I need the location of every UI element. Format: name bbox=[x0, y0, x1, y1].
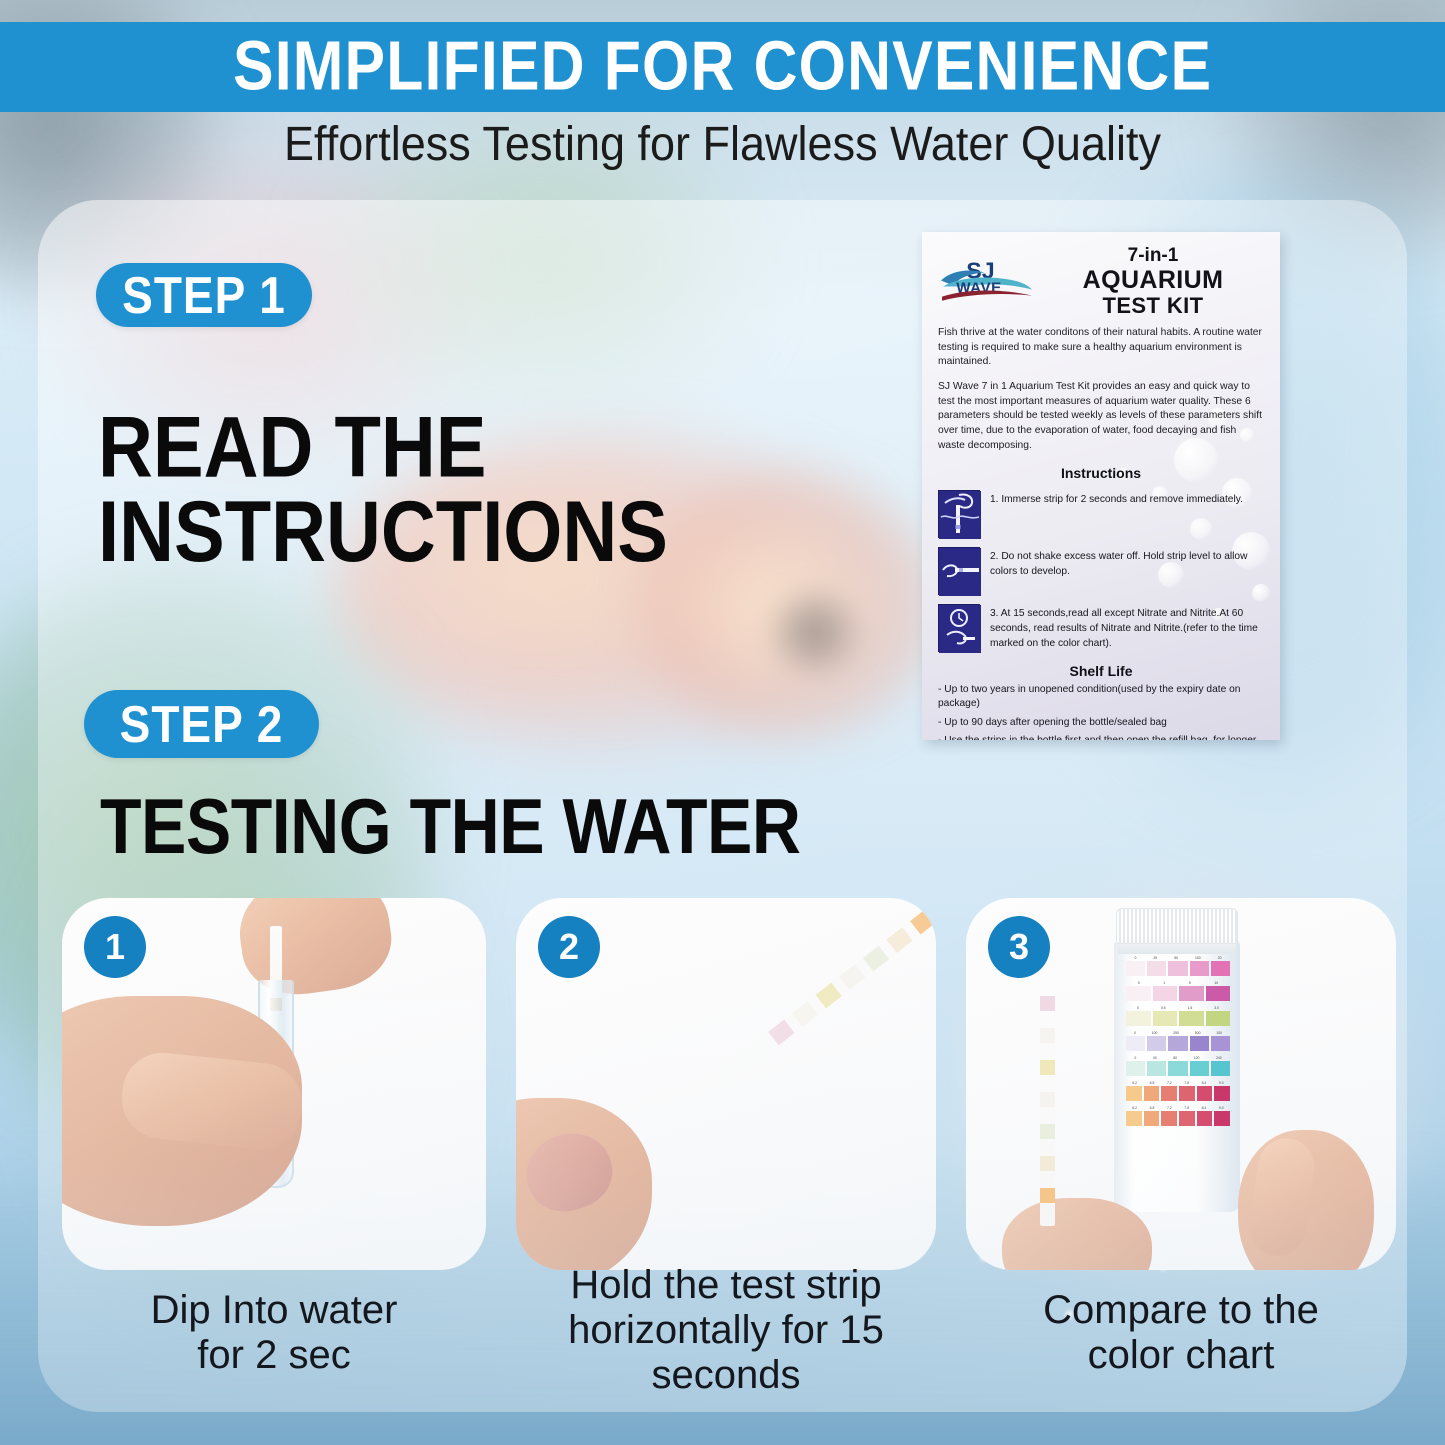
step-photo-3: 02550100200151000.51.53.0010025050010004… bbox=[966, 898, 1396, 1270]
shelf-life-item: - Up to 90 days after opening the bottle… bbox=[938, 716, 1264, 730]
chart-row-swatches bbox=[1126, 1011, 1230, 1026]
step-1-badge-label: STEP 1 bbox=[122, 265, 286, 325]
step-number-2: 2 bbox=[559, 926, 579, 968]
step-caption-1: Dip Into water for 2 sec bbox=[62, 1288, 486, 1378]
bottle-cap bbox=[1116, 908, 1238, 944]
strip-pad bbox=[792, 1001, 818, 1027]
strip-pad bbox=[1040, 1156, 1055, 1171]
shelf-life-item: - Up to two years in unopened condition(… bbox=[938, 683, 1264, 712]
leaflet-instruction-row: 2. Do not shake excess water off. Hold s… bbox=[938, 547, 1264, 595]
instruction-text-1: 1. Immerse strip for 2 seconds and remov… bbox=[990, 490, 1243, 508]
strip-pad bbox=[839, 964, 865, 990]
leaflet-paragraph-1: Fish thrive at the water conditons of th… bbox=[938, 326, 1264, 370]
step-number-3: 3 bbox=[1009, 926, 1029, 968]
instruction-text-3: 3. At 15 seconds,read all except Nitrate… bbox=[990, 604, 1264, 652]
step-1-heading: READ THE INSTRUCTIONS bbox=[98, 406, 668, 576]
strip-pad bbox=[1040, 1092, 1055, 1107]
leaflet-title-line1: 7-in-1 bbox=[1042, 246, 1264, 267]
test-strip-compare bbox=[1040, 988, 1055, 1226]
chart-row-swatches bbox=[1126, 1036, 1230, 1051]
step-2-badge-label: STEP 2 bbox=[120, 694, 284, 754]
strip-pad bbox=[1040, 996, 1055, 1011]
chart-row-swatches bbox=[1126, 1111, 1230, 1126]
page-subtitle: Effortless Testing for Flawless Water Qu… bbox=[0, 116, 1445, 172]
header-banner: SIMPLIFIED FOR CONVENIENCE bbox=[0, 22, 1445, 112]
read-at-time-icon bbox=[938, 604, 980, 652]
step-photo-2: 2 bbox=[516, 898, 936, 1270]
page-title: SIMPLIFIED FOR CONVENIENCE bbox=[233, 32, 1212, 101]
step-1-badge: STEP 1 bbox=[96, 263, 312, 327]
leaflet-title-line3: TEST KIT bbox=[1042, 294, 1264, 318]
instruction-text-2: 2. Do not shake excess water off. Hold s… bbox=[990, 547, 1264, 580]
strip-pad bbox=[1040, 1060, 1055, 1075]
instruction-leaflet: SJ WAVE 7-in-1 AQUARIUM TEST KIT Fish th… bbox=[922, 232, 1280, 740]
strip-pad bbox=[1040, 1188, 1055, 1203]
step-2-heading: TESTING THE WATER bbox=[100, 789, 800, 865]
leaflet-instruction-row: 1. Immerse strip for 2 seconds and remov… bbox=[938, 490, 1264, 538]
chart-row-swatches bbox=[1126, 986, 1230, 1001]
color-chart: 02550100200151000.51.53.0010025050010004… bbox=[1126, 956, 1230, 1131]
test-strip-diagonal bbox=[713, 898, 936, 1088]
shelf-life-item: - Use the strips in the bottle first and… bbox=[938, 734, 1264, 740]
chart-row-swatches bbox=[1126, 1086, 1230, 1101]
leaflet-header: SJ WAVE 7-in-1 AQUARIUM TEST KIT bbox=[938, 244, 1264, 317]
step-caption-2: Hold the test strip horizontally for 15 … bbox=[510, 1263, 942, 1397]
chart-row-swatches bbox=[1126, 1061, 1230, 1076]
step-number-badge-3: 3 bbox=[988, 916, 1050, 978]
leaflet-title-line2: AQUARIUM bbox=[1042, 267, 1264, 294]
strip-pad bbox=[886, 927, 912, 953]
step-caption-3: Compare to the color chart bbox=[966, 1288, 1396, 1378]
step-photo-1: 1 bbox=[62, 898, 486, 1270]
strip-pad bbox=[816, 983, 842, 1009]
leaflet-instructions-title: Instructions bbox=[938, 465, 1264, 481]
chart-row-swatches bbox=[1126, 961, 1230, 976]
step-number-1: 1 bbox=[105, 926, 125, 968]
strip-pad bbox=[768, 1020, 794, 1046]
immerse-strip-icon bbox=[938, 490, 980, 538]
strip-pad bbox=[910, 909, 936, 935]
leaflet-shelf-life-title: Shelf Life bbox=[938, 663, 1264, 679]
leaflet-title-block: 7-in-1 AQUARIUM TEST KIT bbox=[1042, 244, 1264, 317]
hold-strip-level-icon bbox=[938, 547, 980, 595]
strip-pad bbox=[1040, 1124, 1055, 1139]
test-kit-bottle: 02550100200151000.51.53.0010025050010004… bbox=[1114, 940, 1240, 1212]
step-number-badge-2: 2 bbox=[538, 916, 600, 978]
leaflet-paragraph-2: SJ Wave 7 in 1 Aquarium Test Kit provide… bbox=[938, 380, 1264, 453]
sj-wave-logo-icon: SJ WAVE bbox=[938, 252, 1034, 310]
step-number-badge-1: 1 bbox=[84, 916, 146, 978]
strip-pad bbox=[863, 946, 889, 972]
step-2-badge: STEP 2 bbox=[84, 690, 319, 758]
leaflet-instruction-row: 3. At 15 seconds,read all except Nitrate… bbox=[938, 604, 1264, 652]
strip-pad bbox=[1040, 1028, 1055, 1043]
